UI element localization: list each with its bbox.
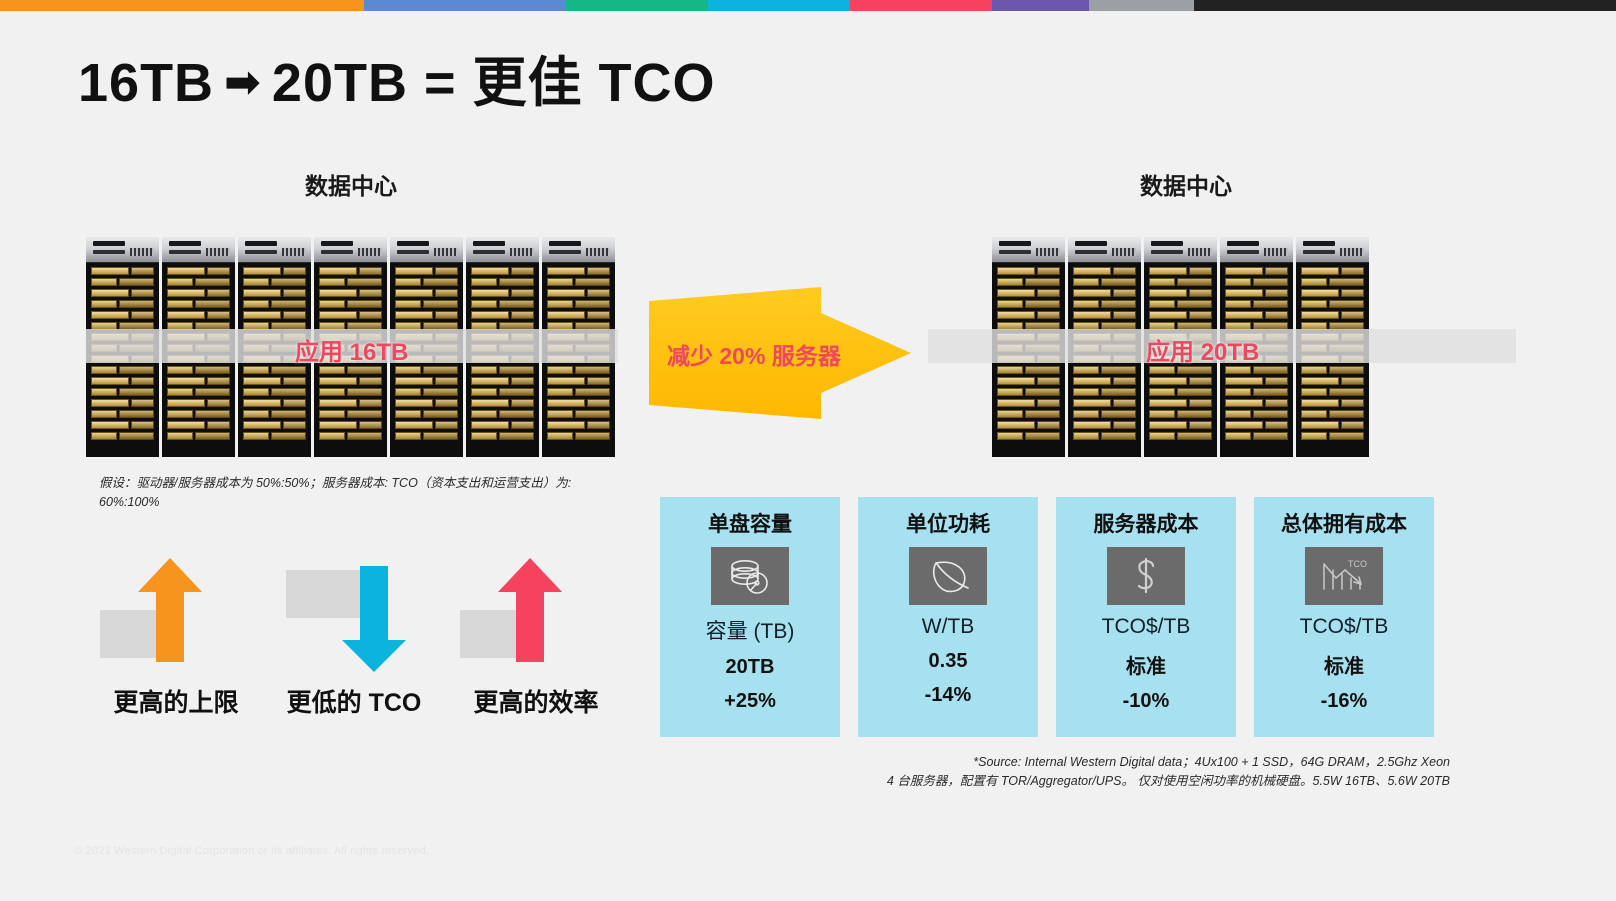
drive-bay: [1073, 311, 1136, 319]
drive-bay: [1225, 289, 1288, 297]
drive-bay: [319, 432, 382, 440]
drive-bay: [471, 278, 534, 286]
drive-bay: [91, 311, 154, 319]
source-note-line1: *Source: Internal Western Digital data；4…: [810, 753, 1450, 772]
metric-card-unit: 容量 (TB): [706, 615, 795, 645]
drive-bay: [1301, 278, 1364, 286]
rack-top-panel: [238, 237, 311, 263]
drive-bay: [167, 432, 230, 440]
metric-card: 单位功耗 W/TB 0.35 -14%: [858, 497, 1038, 737]
page-title: 16TB➡20TB = 更佳 TCO: [78, 38, 716, 117]
drive-bay: [1149, 267, 1212, 275]
drive-bay: [997, 432, 1060, 440]
drive-bay: [243, 410, 306, 418]
rack-vent-icon: [1188, 248, 1212, 256]
drive-bay: [395, 399, 458, 407]
drive-bay: [1073, 278, 1136, 286]
drive-bay: [91, 421, 154, 429]
drive-bay: [395, 410, 458, 418]
rack-top-panel: [542, 237, 615, 263]
leaf-icon: [922, 556, 974, 596]
right-band-label: 应用 20TB: [1146, 332, 1259, 367]
right-arrow-icon: ➡: [214, 58, 272, 107]
benefit-item: 更高的效率: [446, 548, 626, 678]
drive-bay: [1073, 421, 1136, 429]
metric-card-value: 标准: [1126, 650, 1166, 679]
drive-bay: [1073, 267, 1136, 275]
drive-bay: [547, 388, 610, 396]
left-datacenter-heading: 数据中心: [305, 167, 397, 201]
benefit-art: [264, 548, 444, 678]
drive-bay: [997, 366, 1060, 374]
title-to: 20TB = 更佳 TCO: [272, 53, 716, 113]
drive-bay: [547, 421, 610, 429]
drive-bay: [1225, 377, 1288, 385]
drive-bay: [1149, 410, 1212, 418]
drive-bay: [395, 421, 458, 429]
metric-card: 服务器成本 TCO$/TB 标准 -10%: [1056, 497, 1236, 737]
drive-bay: [547, 410, 610, 418]
drive-bay: [91, 289, 154, 297]
metric-card-title: 单位功耗: [906, 508, 990, 538]
rack-vent-icon: [1112, 248, 1136, 256]
metric-card-row: 单盘容量 容量 (TB) 20TB +25%单位功耗: [660, 497, 1434, 737]
assumption-note: 假设：驱动器/服务器成本为 50%:50%；服务器成本: TCO（资本支出和运营…: [99, 474, 624, 512]
brand-bar-segment: [708, 0, 850, 11]
rack-top-panel: [992, 237, 1065, 263]
drive-bay: [997, 421, 1060, 429]
drive-bay: [319, 421, 382, 429]
drive-bay: [1225, 410, 1288, 418]
drive-bay: [167, 311, 230, 319]
drive-bay: [471, 311, 534, 319]
drive-bay: [395, 432, 458, 440]
metric-card-icon: [711, 547, 789, 605]
drive-bay: [1301, 410, 1364, 418]
drive-bay: [91, 278, 154, 286]
drive-bay: [395, 300, 458, 308]
benefit-label: 更高的上限: [113, 683, 238, 719]
metric-card: 单盘容量 容量 (TB) 20TB +25%: [660, 497, 840, 737]
drive-bay: [1225, 388, 1288, 396]
drive-bay: [471, 289, 534, 297]
drive-bay: [319, 388, 382, 396]
rack-vent-icon: [1340, 248, 1364, 256]
metric-card-delta: -16%: [1321, 690, 1368, 713]
rack-vent-icon: [510, 248, 534, 256]
drive-bay: [997, 300, 1060, 308]
server-reduction-label: 减少 20% 服务器: [667, 337, 841, 371]
rack-vent-icon: [282, 248, 306, 256]
benefit-icon-row: 更高的上限 更低的 TCO 更高的效率: [86, 548, 626, 748]
metric-card-icon: TCO: [1305, 547, 1383, 605]
up-arrow-icon: [86, 548, 266, 678]
drive-bay: [167, 267, 230, 275]
benefit-art: [86, 548, 266, 678]
drive-bay: [319, 278, 382, 286]
drive-bay: [1301, 399, 1364, 407]
drive-bay: [1149, 421, 1212, 429]
drive-bay: [471, 432, 534, 440]
drive-bay: [997, 278, 1060, 286]
drive-bay: [547, 432, 610, 440]
metric-card-unit: W/TB: [922, 615, 975, 639]
drive-bay: [167, 421, 230, 429]
server-reduction-arrow: 减少 20% 服务器: [645, 283, 915, 423]
brand-bar-segment: [1089, 0, 1194, 11]
drive-bay: [91, 366, 154, 374]
drive-bay: [319, 399, 382, 407]
drive-bay: [243, 399, 306, 407]
drive-bay: [167, 366, 230, 374]
right-datacenter-heading: 数据中心: [1140, 167, 1232, 201]
drive-bay: [319, 300, 382, 308]
drive-bay: [395, 278, 458, 286]
rack-top-panel: [86, 237, 159, 263]
drive-bay: [243, 366, 306, 374]
drive-bay: [547, 267, 610, 275]
drive-bay: [91, 432, 154, 440]
brand-bar-segment: [992, 0, 1089, 11]
drive-bay: [1149, 432, 1212, 440]
drive-bay: [997, 289, 1060, 297]
benefit-label: 更低的 TCO: [287, 683, 422, 719]
drive-bay: [997, 399, 1060, 407]
brand-bar-segment: [850, 0, 992, 11]
drive-bay: [997, 267, 1060, 275]
drive-bay: [167, 399, 230, 407]
metric-card-delta: -10%: [1123, 690, 1170, 713]
rack-top-panel: [314, 237, 387, 263]
drive-bay: [319, 410, 382, 418]
drive-bay: [1301, 388, 1364, 396]
metric-card-unit: TCO$/TB: [1102, 615, 1191, 639]
drive-bay: [471, 377, 534, 385]
rack-vent-icon: [358, 248, 382, 256]
drive-bay: [395, 377, 458, 385]
rack-top-panel: [390, 237, 463, 263]
rack-vent-icon: [130, 248, 154, 256]
drive-bay: [91, 399, 154, 407]
drive-bay: [243, 432, 306, 440]
down-arrow-icon: [264, 548, 444, 678]
drive-bay: [319, 267, 382, 275]
drive-bay: [319, 366, 382, 374]
drive-bay: [1149, 278, 1212, 286]
rack-top-panel: [1068, 237, 1141, 263]
drive-bay: [1073, 300, 1136, 308]
rack-vent-icon: [586, 248, 610, 256]
drive-bay: [1225, 267, 1288, 275]
drive-bay: [1301, 432, 1364, 440]
drive-bay: [547, 399, 610, 407]
drive-bay: [91, 267, 154, 275]
metric-card-title: 服务器成本: [1094, 508, 1199, 538]
drive-bay: [547, 377, 610, 385]
drive-bay: [167, 278, 230, 286]
drive-bay: [243, 300, 306, 308]
drive-bay: [395, 267, 458, 275]
drive-bay: [1225, 366, 1288, 374]
brand-bar-segment: [364, 0, 566, 11]
drive-bay: [1225, 421, 1288, 429]
drive-bay: [167, 388, 230, 396]
drive-bay: [243, 278, 306, 286]
drive-bay: [1301, 366, 1364, 374]
drive-bay: [471, 388, 534, 396]
drive-bay: [1073, 388, 1136, 396]
drive-bay: [395, 289, 458, 297]
rack-vent-icon: [1264, 248, 1288, 256]
drive-bay: [395, 311, 458, 319]
rack-top-panel: [466, 237, 539, 263]
metric-card-icon: [909, 547, 987, 605]
drive-bay: [1225, 432, 1288, 440]
up-arrow-icon: [446, 548, 626, 678]
drive-bay: [1301, 377, 1364, 385]
drive-bay: [243, 388, 306, 396]
drive-bay: [167, 377, 230, 385]
brand-bar-segment: [1194, 0, 1616, 11]
brand-bar-segment: [566, 0, 708, 11]
drive-bay: [395, 388, 458, 396]
metric-card-title: 单盘容量: [708, 508, 792, 538]
drive-bay: [1149, 377, 1212, 385]
brand-color-bar: [0, 0, 1616, 11]
benefit-art: [446, 548, 626, 678]
drive-bay: [1149, 311, 1212, 319]
metric-card-value: 0.35: [929, 650, 968, 673]
metric-card-delta: -14%: [925, 684, 972, 707]
benefit-item: 更低的 TCO: [264, 548, 444, 678]
drive-bay: [1149, 300, 1212, 308]
drive-bay: [1073, 366, 1136, 374]
drive-bay: [1149, 289, 1212, 297]
drive-bay: [91, 377, 154, 385]
drive-bay: [1301, 311, 1364, 319]
metric-card-value: 标准: [1324, 650, 1364, 679]
drive-bay: [1225, 311, 1288, 319]
rack-top-panel: [1144, 237, 1217, 263]
drive-bay: [243, 311, 306, 319]
drive-bay: [243, 267, 306, 275]
drive-bay: [1225, 278, 1288, 286]
title-from: 16TB: [78, 53, 214, 113]
drive-bay: [243, 421, 306, 429]
drive-bay: [547, 311, 610, 319]
drive-bay: [395, 366, 458, 374]
rack-top-panel: [1296, 237, 1369, 263]
drive-bay: [471, 267, 534, 275]
drive-bay: [1301, 300, 1364, 308]
drive-bay: [1301, 289, 1364, 297]
brand-bar-segment: [0, 0, 364, 11]
drive-bay: [471, 399, 534, 407]
drive-bay: [547, 300, 610, 308]
drive-bay: [319, 311, 382, 319]
drive-bay: [91, 388, 154, 396]
left-band-label: 应用 16TB: [295, 332, 408, 367]
rack-vent-icon: [1036, 248, 1060, 256]
drive-bay: [471, 410, 534, 418]
drive-bay: [91, 410, 154, 418]
drive-bay: [243, 377, 306, 385]
source-note-line2: 4 台服务器，配置有 TOR/Aggregator/UPS。 仅对使用空闲功率的…: [810, 772, 1450, 791]
benefit-label: 更高的效率: [473, 683, 598, 719]
drive-bay: [471, 421, 534, 429]
drive-bay: [1073, 289, 1136, 297]
metric-card-unit: TCO$/TB: [1300, 615, 1389, 639]
metric-card-icon: [1107, 547, 1185, 605]
tco-chart-icon: TCO: [1318, 556, 1370, 596]
benefit-item: 更高的上限: [86, 548, 266, 678]
rack-top-panel: [162, 237, 235, 263]
rack-vent-icon: [206, 248, 230, 256]
drive-bay: [471, 366, 534, 374]
drive-bay: [167, 300, 230, 308]
drive-bay: [547, 366, 610, 374]
drive-bay: [1073, 432, 1136, 440]
metric-card-value: 20TB: [726, 656, 775, 679]
svg-text:TCO: TCO: [1348, 559, 1367, 569]
drive-bay: [1301, 421, 1364, 429]
drive-bay: [997, 388, 1060, 396]
drive-bay: [167, 289, 230, 297]
metric-card: 总体拥有成本 TCO TCO$/TB 标准 -16%: [1254, 497, 1434, 737]
dollar-icon: [1120, 556, 1172, 596]
drive-bay: [547, 278, 610, 286]
drive-bay: [319, 377, 382, 385]
drive-bay: [1225, 399, 1288, 407]
rack-vent-icon: [434, 248, 458, 256]
drive-bay: [1149, 366, 1212, 374]
drive-bay: [1149, 388, 1212, 396]
drive-bay: [1301, 267, 1364, 275]
slide-root: 16TB➡20TB = 更佳 TCO 数据中心 数据中心 应用 16TB 应用 …: [0, 0, 1616, 901]
disk-platter-icon: [724, 556, 776, 596]
drive-bay: [997, 410, 1060, 418]
drive-bay: [1073, 410, 1136, 418]
drive-bay: [997, 311, 1060, 319]
metric-card-delta: +25%: [724, 690, 776, 713]
drive-bay: [1073, 377, 1136, 385]
drive-bay: [1225, 300, 1288, 308]
drive-bay: [167, 410, 230, 418]
drive-bay: [91, 300, 154, 308]
drive-bay: [319, 289, 382, 297]
copyright-text: © 2021 Western Digital Corporation or it…: [74, 845, 429, 857]
rack-top-panel: [1220, 237, 1293, 263]
drive-bay: [1149, 399, 1212, 407]
drive-bay: [1073, 399, 1136, 407]
source-note: *Source: Internal Western Digital data；4…: [810, 753, 1450, 792]
drive-bay: [997, 377, 1060, 385]
drive-bay: [243, 289, 306, 297]
metric-card-title: 总体拥有成本: [1281, 508, 1407, 538]
drive-bay: [547, 289, 610, 297]
drive-bay: [471, 300, 534, 308]
